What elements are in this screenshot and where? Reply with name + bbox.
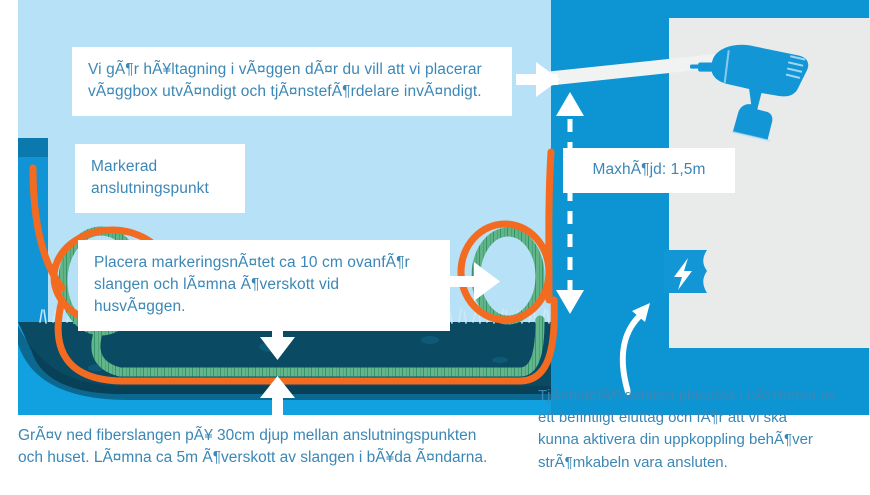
callout-marked-point: Markerad anslutningspunkt [75,144,245,213]
callout-marked-point-line2: anslutningspunkt [91,178,229,200]
callout-max-height: MaxhÃ¶jd: 1,5m [563,148,735,193]
callout-marking-net-line1: Placera markeringsnÃ¤tet ca 10 cm ovanfÃ… [94,252,434,274]
callout-wall-hole: Vi gÃ¶r hÃ¥ltagning i vÃ¤ggen dÃ¤r du vi… [72,47,512,116]
callout-max-height-label: MaxhÃ¶jd: 1,5m [573,159,725,181]
caption-dig-trench-line1: GrÃ¤v ned fiberslangen pÃ¥ 30cm djup mel… [18,425,538,447]
callout-wall-hole-line2: vÃ¤ggbox utvÃ¤ndigt och tjÃ¤nstefÃ¶rdela… [88,81,496,103]
caption-power-outlet: TjÃ¤nstefÃ¶rdelaren placeras i nÃ¤rheten… [538,385,864,474]
connection-point-post-cap [18,138,48,157]
caption-power-outlet-line2: ett befintligt eluttag och fÃ¶r att vi s… [538,407,864,429]
ground-base-left [18,322,551,415]
connection-point-post [18,138,48,328]
caption-dig-trench: GrÃ¤v ned fiberslangen pÃ¥ 30cm djup mel… [18,425,538,470]
callout-marking-net-line2: slangen och lÃ¤mna Ã¶verskott vid husvÃ¤… [94,274,434,318]
caption-power-outlet-line1: TjÃ¤nstefÃ¶rdelaren placeras i nÃ¤rheten… [538,385,864,407]
callout-marked-point-line1: Markerad [91,156,229,178]
caption-dig-trench-line2: och huset. LÃ¤mna ca 5m Ã¶verskott av sl… [18,447,538,469]
caption-power-outlet-line4: strÃ¶mkabeln vara ansluten. [538,452,864,474]
left-margin-strip [0,0,18,415]
callout-wall-hole-line1: Vi gÃ¶r hÃ¥ltagning i vÃ¤ggen dÃ¤r du vi… [88,59,496,81]
caption-power-outlet-line3: kunna aktivera din uppkoppling behÃ¶ver [538,429,864,451]
infographic-canvas: Vi gÃ¶r hÃ¥ltagning i vÃ¤ggen dÃ¤r du vi… [0,0,870,495]
callout-marking-net: Placera markeringsnÃ¤tet ca 10 cm ovanfÃ… [78,240,450,331]
